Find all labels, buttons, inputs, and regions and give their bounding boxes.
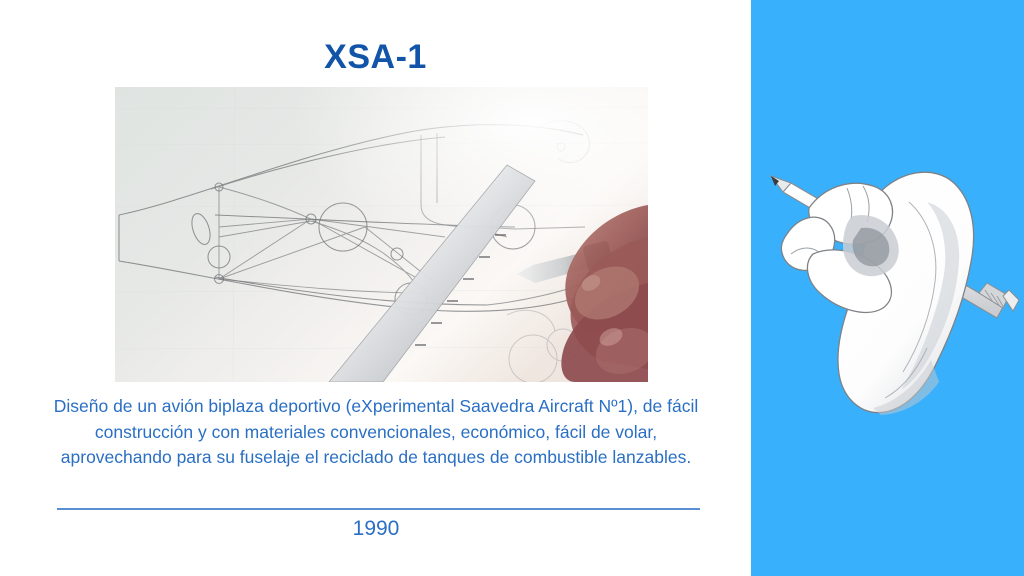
project-description: Diseño de un avión biplaza deportivo (eX…	[46, 394, 706, 471]
project-sketch-photo	[115, 87, 648, 382]
slide-canvas: XSA-1	[0, 0, 1024, 576]
accent-panel	[751, 0, 1024, 576]
caption-divider	[57, 508, 700, 510]
slide-content-column: XSA-1	[0, 0, 751, 576]
sketch-photo-graphic	[115, 87, 648, 382]
hand-holding-pencil-illustration	[757, 150, 1019, 415]
page-title: XSA-1	[0, 36, 751, 78]
hand-pencil-graphic	[757, 150, 1019, 415]
hand-shape	[781, 172, 973, 415]
project-year: 1990	[46, 515, 706, 543]
